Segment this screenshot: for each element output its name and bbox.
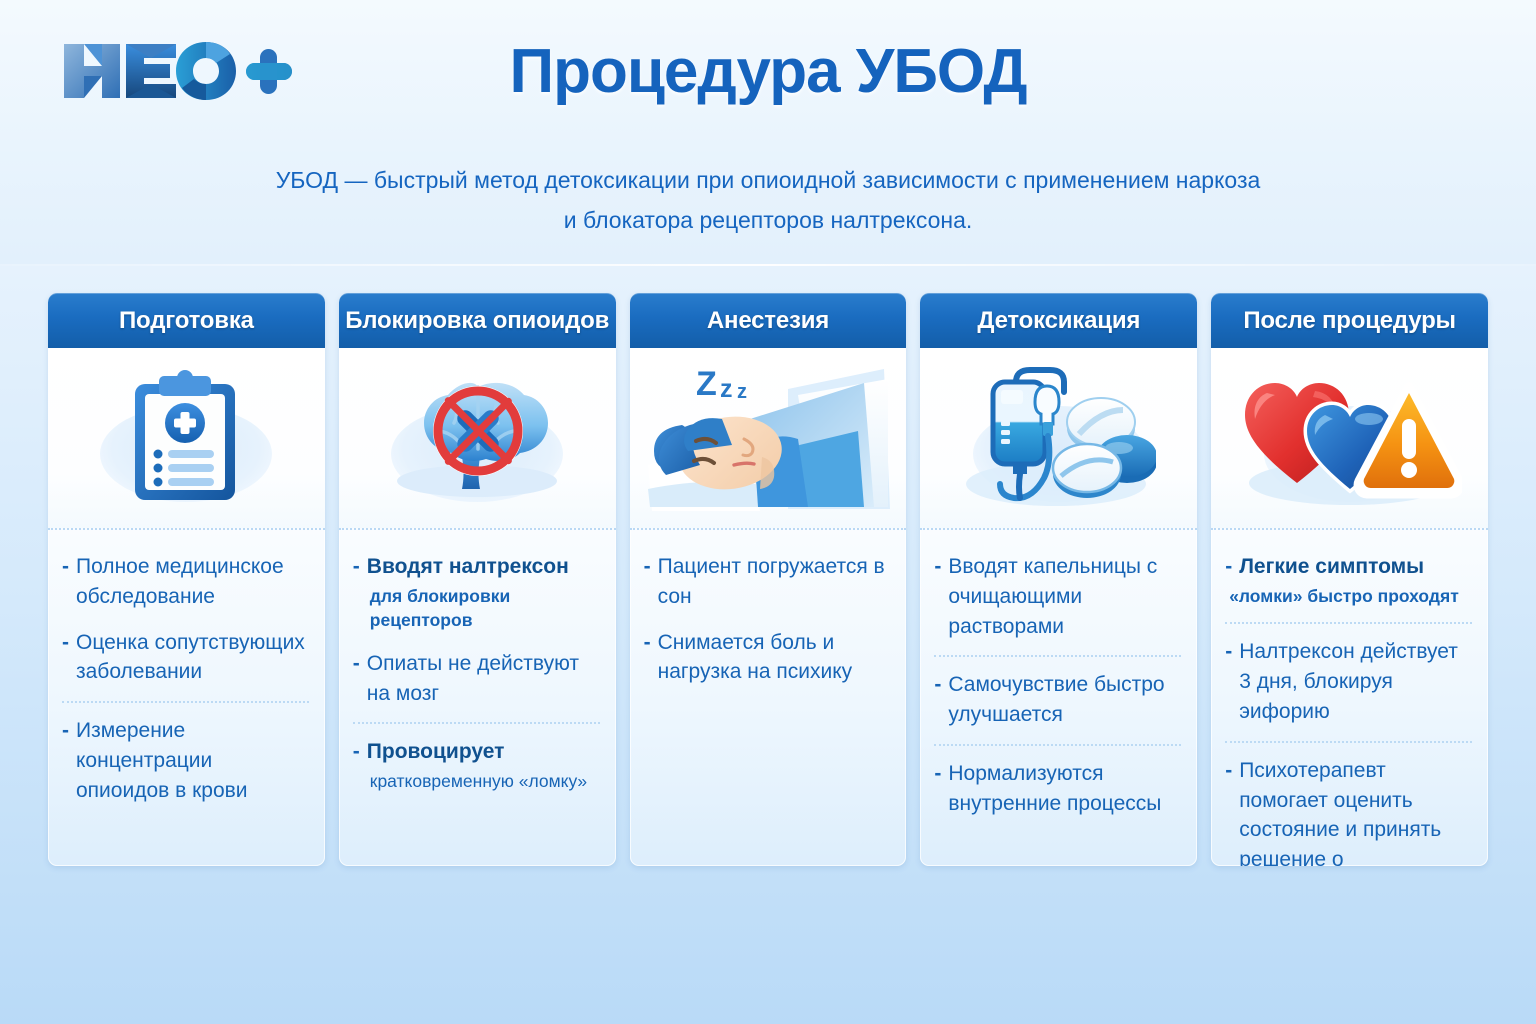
bullet-dash: - [1225, 637, 1232, 726]
item-divider [353, 722, 600, 724]
step-card-opioid-blocking[interactable]: Блокировка опиоидов [339, 293, 616, 866]
list-item-subtext: кратковременную «ломку» [370, 769, 600, 794]
clipboard-medical-icon [48, 348, 325, 528]
list-item: - Оценка сопутствующих заболевании [62, 628, 309, 688]
item-divider [1225, 622, 1472, 624]
step-body: - Вводят налтрексон для блокировки рецеп… [339, 530, 616, 866]
list-item: - Нормализуются внутренние процессы [934, 759, 1181, 819]
list-item-text: Вводят капельницы с очищающими растворам… [948, 552, 1181, 641]
page-title: Процедура УБОД [0, 36, 1536, 107]
bullet-dash: - [934, 759, 941, 819]
bullet-dash: - [353, 737, 360, 767]
step-header: Подготовка [48, 293, 325, 348]
steps-container: Подготовка [48, 293, 1488, 866]
list-item-text: Оценка сопутствующих заболевании [76, 628, 309, 688]
step-header: Анестезия [630, 293, 907, 348]
list-item-text: Снимается боль и нагрузка на психику [658, 628, 891, 688]
step-body: - Легкие симптомы «ломки» быстро проходя… [1211, 530, 1488, 866]
list-item-text: Легкие симптомы [1239, 552, 1424, 582]
bullet-dash: - [644, 552, 651, 612]
list-item-text: Психотерапевт помогает оценить состояние… [1239, 756, 1472, 866]
page-subtitle: УБОД — быстрый метод детоксикации при оп… [0, 160, 1536, 241]
bullet-dash: - [934, 670, 941, 730]
hearts-warning-icon [1211, 348, 1488, 528]
item-divider [1225, 741, 1472, 743]
list-item-text: Вводят налтрексон [367, 552, 569, 582]
brain-blocked-icon [339, 348, 616, 528]
list-item: - Опиаты не действуют на мозг [353, 649, 600, 709]
item-divider [934, 655, 1181, 657]
list-item: - Полное медицинское обследование [62, 552, 309, 612]
list-item: - Самочувствие быстро улучшается [934, 670, 1181, 730]
list-item: - Пациент погружается в сон [644, 552, 891, 612]
step-body: - Полное медицинское обследование - Оцен… [48, 530, 325, 866]
bullet-dash: - [644, 628, 651, 688]
list-item: - Налтрексон действует 3 дня, блокируя э… [1225, 637, 1472, 726]
bullet-dash: - [62, 552, 69, 612]
list-item-text: Измерение концентрации опиоидов в крови [76, 716, 309, 805]
bullet-dash: - [1225, 552, 1232, 582]
list-item-subtext: «ломки» быстро проходят [1229, 584, 1472, 609]
list-item-text: Провоцирует [367, 737, 505, 767]
bullet-dash: - [62, 628, 69, 688]
step-card-detoxication[interactable]: Детоксикация [920, 293, 1197, 866]
bullet-dash: - [1225, 756, 1232, 866]
step-header: После процедуры [1211, 293, 1488, 348]
bullet-dash: - [353, 649, 360, 709]
list-item: - Провоцирует [353, 737, 600, 767]
step-card-preparation[interactable]: Подготовка [48, 293, 325, 866]
list-item-text: Самочувствие быстро улучшается [948, 670, 1181, 730]
step-body: - Вводят капельницы с очищающими раствор… [920, 530, 1197, 866]
subtitle-line-1: УБОД — быстрый метод детоксикации при оп… [0, 160, 1536, 200]
bullet-dash: - [62, 716, 69, 805]
zzz-label: Z [696, 365, 717, 403]
list-item: - Снимается боль и нагрузка на психику [644, 628, 891, 688]
subtitle-line-2: и блокатора рецепторов налтрексона. [0, 200, 1536, 240]
list-item-text: Нормализуются внутренние процессы [948, 759, 1181, 819]
list-item: - Психотерапевт помогает оценить состоян… [1225, 756, 1472, 866]
list-item: - Легкие симптомы [1225, 552, 1472, 582]
list-item-text: Пациент погружается в сон [658, 552, 891, 612]
bullet-dash: - [353, 552, 360, 582]
list-item-subtext: для блокировки рецепторов [370, 584, 600, 633]
sleeping-patient-icon: Z z z [630, 348, 907, 528]
item-divider [934, 744, 1181, 746]
svg-text:z: z [720, 375, 733, 403]
list-item: - Вводят налтрексон [353, 552, 600, 582]
step-card-after-procedure[interactable]: После процедуры [1211, 293, 1488, 866]
step-header: Блокировка опиоидов [339, 293, 616, 348]
bullet-dash: - [934, 552, 941, 641]
step-card-anesthesia[interactable]: Анестезия [630, 293, 907, 866]
svg-text:z: z [737, 381, 747, 403]
item-divider [62, 701, 309, 703]
iv-drip-pills-icon [920, 348, 1197, 528]
list-item-text: Полное медицинское обследование [76, 552, 309, 612]
list-item: - Вводят капельницы с очищающими раствор… [934, 552, 1181, 641]
step-header: Детоксикация [920, 293, 1197, 348]
list-item-text: Налтрексон действует 3 дня, блокируя эиф… [1239, 637, 1472, 726]
list-item-text: Опиаты не действуют на мозг [367, 649, 600, 709]
step-body: - Пациент погружается в сон - Снимается … [630, 530, 907, 866]
list-item: - Измерение концентрации опиоидов в кров… [62, 716, 309, 805]
